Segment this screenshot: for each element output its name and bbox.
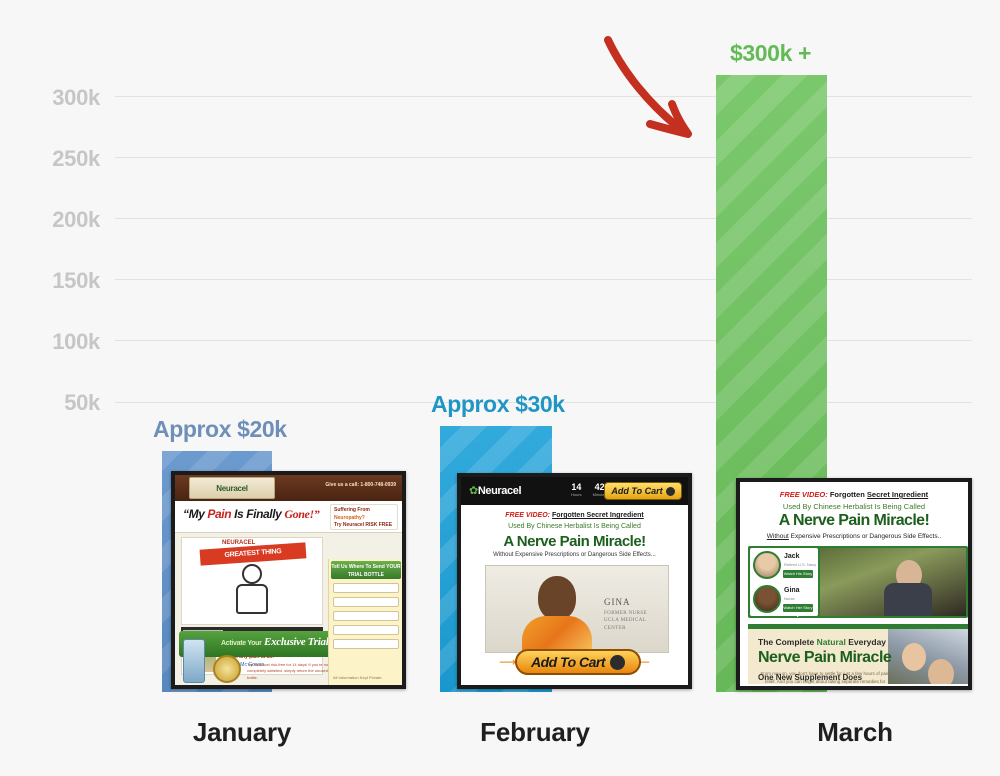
jan-logo: Neuracel bbox=[189, 477, 275, 499]
feb-logo: ✿Neuracel bbox=[469, 484, 521, 497]
feb-add-to-cart-label: Add To Cart bbox=[531, 654, 605, 670]
jan-headline-script: Gone!” bbox=[284, 507, 319, 521]
feb-headline-line1: FREE VIDEO: Forgotten Secret Ingredient bbox=[461, 512, 688, 519]
jan-cta-text: Activate Your Exclusive Trial! bbox=[221, 636, 332, 648]
feb-presenter bbox=[522, 576, 592, 653]
feb-timer-hours-label: Hours bbox=[571, 492, 582, 497]
mar-headline-rest-underline: Secret Ingredient bbox=[867, 490, 928, 499]
jan-badge-line3: Try Neuracel RISK FREE bbox=[334, 522, 394, 530]
mar-promo-line1: The Complete Natural Everyday bbox=[758, 637, 886, 647]
y-tick-label-100k: 100k bbox=[10, 329, 100, 355]
feb-headline-tagline: Without Expensive Prescriptions or Dange… bbox=[461, 552, 688, 558]
jan-form-note: All Information Kept Private. bbox=[333, 675, 399, 681]
mar-testimonial-sidebar: Jack Retired U.S. Navy Watch His Story ▸… bbox=[750, 548, 818, 616]
mar-headline-tagline: Without Expensive Prescriptions or Dange… bbox=[740, 533, 968, 540]
jan-phone-number: Give us a call: 1-800-748-0939 bbox=[325, 482, 396, 488]
jan-illustration: NEURACEL GREATEST THING bbox=[181, 537, 323, 625]
mar-couple-head-2 bbox=[928, 659, 954, 684]
feb-caption-name: GINA bbox=[604, 596, 668, 610]
jan-headline-band: “My Pain Is Finally Gone!” Suffering Fro… bbox=[175, 501, 402, 533]
mar-couple-head-1 bbox=[902, 643, 926, 671]
jan-form-field-email[interactable] bbox=[333, 639, 399, 649]
mar-tagline-rest: Expensive Prescriptions or Dangerous Sid… bbox=[789, 533, 941, 540]
feb-caption-role: FORMER NURSE bbox=[604, 610, 668, 618]
y-tick-label-50k: 50k bbox=[10, 390, 100, 416]
bar-value-label-february: Approx $30k bbox=[431, 391, 565, 418]
jan-fine-print: Try Neuracel risk-free for 14 days! If y… bbox=[247, 662, 333, 681]
cart-icon bbox=[666, 487, 675, 496]
feb-headline-line2: Used By Chinese Herbalist Is Being Calle… bbox=[461, 523, 688, 530]
jan-neuropathy-badge: Suffering From Neuropathy? Try Neuracel … bbox=[330, 504, 398, 530]
jan-figure-head bbox=[242, 564, 262, 584]
jan-headline-mid: Is Finally bbox=[231, 507, 284, 521]
jan-signup-form[interactable]: Tell Us Where To Send YOUR TRIAL BOTTLE … bbox=[328, 559, 402, 685]
mar-promo-headline: Nerve Pain Miracle bbox=[758, 649, 891, 667]
mar-headline-line1: FREE VIDEO: Forgotten Secret Ingredient bbox=[740, 490, 968, 499]
red-arrow-annotation bbox=[588, 28, 708, 140]
thumbnail-january-landing-page[interactable]: Neuracel Give us a call: 1-800-748-0939 … bbox=[171, 471, 406, 689]
mar-tagline-underline: Without bbox=[767, 533, 789, 540]
mar-free-video-label: FREE VIDEO: bbox=[780, 490, 828, 499]
jan-badge-line2: Neuropathy? bbox=[334, 515, 394, 523]
x-axis-label-january: January bbox=[162, 717, 322, 748]
mar-testimonial-jack-name: Jack bbox=[784, 553, 800, 560]
jan-cta-small: Activate Your bbox=[221, 640, 262, 647]
feb-presenter-dress bbox=[522, 616, 592, 653]
feb-left-arrow-icon: ⟶ bbox=[499, 655, 516, 669]
feb-add-to-cart-button[interactable]: Add To Cart bbox=[515, 649, 641, 675]
gridline-150k bbox=[115, 279, 972, 280]
thumbnail-february-landing-page[interactable]: ✿Neuracel 14 Hours 42 Minutes 34 Seconds bbox=[457, 473, 692, 689]
mar-headline-line2: Used By Chinese Herbalist Is Being Calle… bbox=[740, 502, 968, 511]
jan-cta-big: Exclusive Trial! bbox=[264, 636, 332, 648]
y-tick-label-200k: 200k bbox=[10, 207, 100, 233]
jan-headline: “My Pain Is Finally Gone!” bbox=[183, 507, 319, 522]
jan-ribbon-text: GREATEST THING bbox=[200, 542, 307, 565]
feb-video-player[interactable]: GINA FORMER NURSE UCLA MEDICAL CENTER bbox=[485, 565, 669, 653]
mar-video-stage[interactable]: Jack Retired U.S. Navy Watch His Story ▸… bbox=[748, 546, 968, 618]
feb-presenter-caption: GINA FORMER NURSE UCLA MEDICAL CENTER bbox=[604, 596, 668, 632]
mar-avatar-jack bbox=[753, 551, 781, 579]
x-axis-label-february: February bbox=[455, 717, 615, 748]
thumbnail-march-landing-page[interactable]: FREE VIDEO: Forgotten Secret Ingredient … bbox=[736, 478, 972, 690]
bar-value-label-march: $300k + bbox=[730, 40, 811, 67]
bar-value-label-january: Approx $20k bbox=[153, 416, 287, 443]
feb-free-video-label: FREE VIDEO: bbox=[505, 512, 550, 519]
jan-cartoon-figure bbox=[230, 564, 274, 616]
mar-testimonial-jack[interactable]: Jack Retired U.S. Navy Watch His Story ▸ bbox=[752, 550, 816, 582]
feb-headline-main: A Nerve Pain Miracle! bbox=[461, 533, 688, 550]
mar-testimonial-gina-button[interactable]: Watch Her Story ▸ bbox=[783, 604, 813, 612]
jan-figure-body bbox=[236, 584, 268, 614]
jan-ribbon-top-text: NEURACEL bbox=[222, 540, 255, 546]
feb-page-body: FREE VIDEO: Forgotten Secret Ingredient … bbox=[461, 505, 688, 685]
mar-testimonial-gina-name: Gina bbox=[784, 587, 800, 594]
jan-form-field-country[interactable] bbox=[333, 597, 399, 607]
feb-header-bar: ✿Neuracel 14 Hours 42 Minutes 34 Seconds bbox=[461, 477, 688, 505]
y-tick-label-250k: 250k bbox=[10, 146, 100, 172]
mar-page-body: FREE VIDEO: Forgotten Secret Ingredient … bbox=[740, 482, 968, 686]
feb-headline-rest: Forgotten Secret Ingredient bbox=[552, 512, 644, 519]
leaf-icon: ✿ bbox=[469, 485, 478, 497]
mar-headline-main: A Nerve Pain Miracle! bbox=[740, 512, 968, 530]
y-tick-label-150k: 150k bbox=[10, 268, 100, 294]
jan-form-field-phone[interactable] bbox=[333, 625, 399, 635]
gridline-200k bbox=[115, 218, 972, 219]
gridline-300k bbox=[115, 96, 972, 97]
feb-header-add-to-cart-button[interactable]: Add To Cart bbox=[604, 482, 682, 500]
feb-presenter-face bbox=[538, 576, 576, 620]
mar-promo-post: Everyday bbox=[846, 637, 886, 647]
feb-header-cart-label: Add To Cart bbox=[611, 486, 662, 496]
gridline-100k bbox=[115, 340, 972, 341]
x-axis-label-march: March bbox=[775, 717, 935, 748]
cart-icon bbox=[610, 655, 625, 670]
mar-promo-green: Natural bbox=[817, 637, 846, 647]
mar-testimonial-gina-role: Nurse bbox=[784, 596, 795, 601]
jan-page-body: NEURACEL GREATEST THING “I can now stret… bbox=[175, 533, 402, 685]
jan-form-heading: Tell Us Where To Send YOUR TRIAL BOTTLE bbox=[331, 561, 401, 579]
feb-logo-text: Neuracel bbox=[478, 485, 521, 497]
mar-testimonial-jack-role: Retired U.S. Navy bbox=[784, 562, 816, 567]
mar-avatar-gina bbox=[753, 585, 781, 613]
jan-product-bottle bbox=[183, 639, 205, 683]
jan-form-field-first-name[interactable] bbox=[333, 583, 399, 593]
feb-timer-hours: 14 Hours bbox=[571, 483, 582, 497]
mar-headline-rest-pre: Forgotten bbox=[828, 490, 867, 499]
feb-timer-hours-num: 14 bbox=[571, 483, 582, 492]
mar-promo-footer: One New Supplement Does bbox=[758, 673, 862, 682]
jan-form-field-zip[interactable] bbox=[333, 611, 399, 621]
mar-couple-photo bbox=[888, 629, 968, 684]
mar-testimonial-jack-button[interactable]: Watch His Story ▸ bbox=[783, 570, 813, 578]
mar-promo-section: The Complete Natural Everyday Nerve Pain… bbox=[748, 624, 968, 684]
jan-badge-line1: Suffering From bbox=[334, 507, 394, 515]
jan-headline-red: Pain bbox=[207, 507, 231, 521]
mar-promo-pre: The Complete bbox=[758, 637, 817, 647]
bar-chart: 300k 250k 200k 150k 100k 50k Approx $20k bbox=[0, 0, 1000, 776]
jan-guarantee-seal bbox=[213, 655, 241, 683]
mar-video-subject-body bbox=[884, 583, 932, 616]
mar-testimonial-gina[interactable]: Gina Nurse Watch Her Story ▸ bbox=[752, 584, 816, 616]
mar-video-thumbnail[interactable] bbox=[820, 548, 966, 616]
y-tick-label-300k: 300k bbox=[10, 85, 100, 111]
gridline-250k bbox=[115, 157, 972, 158]
jan-headline-pre: “My bbox=[183, 507, 207, 521]
feb-caption-place: UCLA MEDICAL CENTER bbox=[604, 617, 668, 632]
